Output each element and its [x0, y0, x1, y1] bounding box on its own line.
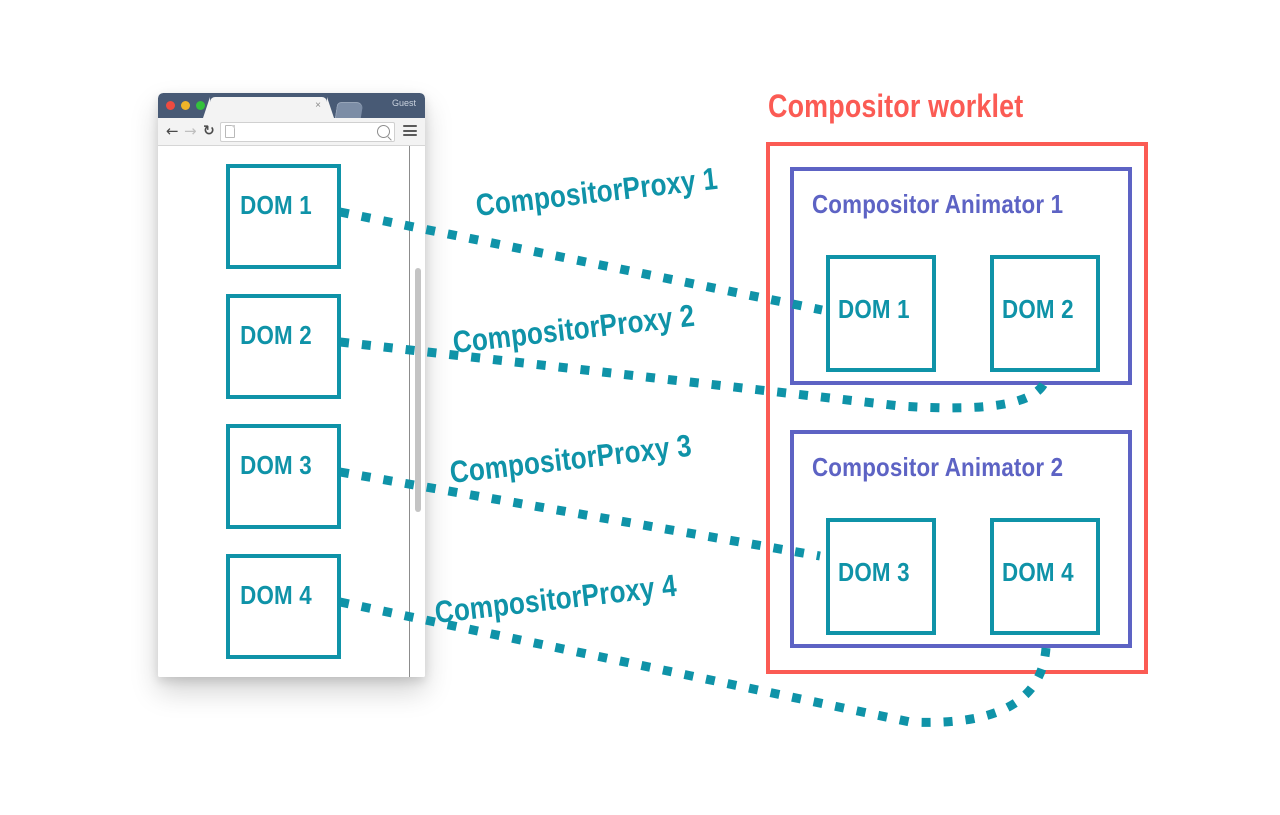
proxy-label-3: CompositorProxy 3 — [448, 428, 694, 491]
reload-icon[interactable]: ↻ — [203, 123, 215, 140]
tab-close-icon[interactable]: × — [315, 100, 321, 112]
compositor-animator-1: Compositor Animator 1 DOM 1 DOM 2 — [790, 167, 1132, 385]
animator-1-dom-label-1: DOM 1 — [830, 294, 918, 325]
animator-1-dom-box-2: DOM 2 — [990, 255, 1100, 372]
animator-2-dom-box-2: DOM 4 — [990, 518, 1100, 635]
compositor-animator-2: Compositor Animator 2 DOM 3 DOM 4 — [790, 430, 1132, 648]
close-window-icon[interactable] — [166, 101, 175, 110]
proxy-label-2: CompositorProxy 2 — [451, 298, 697, 361]
proxy-label-4: CompositorProxy 4 — [433, 568, 679, 631]
compositor-animator-2-title: Compositor Animator 2 — [794, 452, 1081, 483]
back-arrow-icon[interactable]: ← — [166, 123, 179, 140]
page-dom-box-3: DOM 3 — [226, 424, 341, 529]
proxy-label-1: CompositorProxy 1 — [474, 161, 720, 224]
browser-window: × Guest ← → ↻ DOM 1 — [158, 93, 425, 677]
browser-titlebar: × Guest — [158, 93, 425, 118]
browser-viewport: DOM 1 DOM 2 DOM 3 DOM 4 — [158, 146, 425, 677]
page-dom-label-2: DOM 2 — [230, 320, 322, 351]
page-document-icon — [225, 125, 235, 138]
diagram-canvas: × Guest ← → ↻ DOM 1 — [0, 0, 1280, 815]
address-bar[interactable] — [220, 122, 395, 142]
animator-1-dom-box-1: DOM 1 — [826, 255, 936, 372]
animator-2-dom-label-1: DOM 3 — [830, 557, 918, 588]
animator-1-dom-label-2: DOM 2 — [994, 294, 1082, 325]
minimize-window-icon[interactable] — [181, 101, 190, 110]
page-dom-label-4: DOM 4 — [230, 580, 322, 611]
page-dom-box-2: DOM 2 — [226, 294, 341, 399]
hamburger-menu-icon[interactable] — [403, 125, 417, 136]
animator-2-dom-label-2: DOM 4 — [994, 557, 1082, 588]
page-dom-label-3: DOM 3 — [230, 450, 322, 481]
page-dom-box-1: DOM 1 — [226, 164, 341, 269]
search-icon[interactable] — [377, 125, 390, 138]
animator-2-dom-box-1: DOM 3 — [826, 518, 936, 635]
scrollbar-thumb[interactable] — [415, 268, 421, 512]
browser-tab[interactable]: × — [210, 97, 327, 118]
page-dom-box-4: DOM 4 — [226, 554, 341, 659]
new-tab-button[interactable] — [335, 102, 364, 118]
browser-toolbar: ← → ↻ — [158, 118, 425, 146]
vertical-scrollbar[interactable] — [410, 146, 425, 677]
worklet-title: Compositor worklet — [768, 88, 1023, 125]
window-controls — [166, 101, 205, 110]
profile-label[interactable]: Guest — [392, 98, 416, 108]
compositor-animator-1-title: Compositor Animator 1 — [794, 189, 1081, 220]
forward-arrow-icon[interactable]: → — [184, 123, 197, 140]
page-dom-label-1: DOM 1 — [230, 190, 322, 221]
